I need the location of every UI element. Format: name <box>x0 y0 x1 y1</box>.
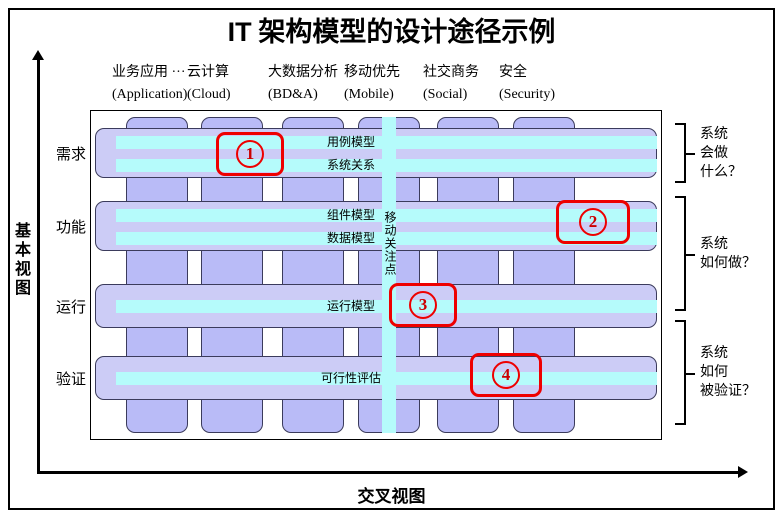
annotation-box-1[interactable]: 1 <box>216 132 284 176</box>
column-header-en: (Social) <box>423 84 479 106</box>
band-label-1: 用例模型 <box>286 136 416 149</box>
brace-tick-3 <box>686 373 695 375</box>
column-header-row: 业务应用 ···(Application)云计算(Cloud)大数据分析(BD&… <box>90 62 662 108</box>
column-header-en: (Application) <box>112 84 187 106</box>
page-title: IT 架构模型的设计途径示例 <box>0 10 783 49</box>
mobile-focus-vertical-label: 移动关注点 <box>382 211 399 276</box>
column-header-cn: 安全 <box>499 62 555 84</box>
y-axis-arrow-icon <box>32 50 44 60</box>
column-header-en: (BD&A) <box>268 84 338 106</box>
brace-caption-3: 系统如何被验证？ <box>700 344 756 401</box>
brace-1 <box>675 123 686 183</box>
column-header-cn: 业务应用 ··· <box>112 62 187 84</box>
band-label-2: 系统关系 <box>286 159 416 172</box>
band-label-6: 可行性评估 <box>286 372 416 385</box>
column-header-1: 业务应用 ···(Application) <box>112 62 187 106</box>
annotation-box-3[interactable]: 3 <box>389 283 457 327</box>
column-header-cn: 移动优先 <box>344 62 400 84</box>
matrix-frame: 用例模型系统关系组件模型数据模型运行模型可行性评估移动关注点 <box>90 110 662 440</box>
brace-3 <box>675 320 686 425</box>
column-header-6: 安全(Security) <box>499 62 555 106</box>
title-latin: IT <box>228 17 252 47</box>
diagram-root: IT 架构模型的设计途径示例 基本视图 交叉视图 业务应用 ···(Applic… <box>0 0 783 518</box>
column-header-en: (Cloud) <box>187 84 231 106</box>
y-axis-line <box>37 58 40 473</box>
column-header-cn: 大数据分析 <box>268 62 338 84</box>
brace-2 <box>675 196 686 311</box>
column-header-cn: 社交商务 <box>423 62 479 84</box>
brace-caption-line: 系统 <box>700 344 756 363</box>
column-header-cn: 云计算 <box>187 62 231 84</box>
brace-caption-line: 被验证？ <box>700 382 756 401</box>
annotation-box-2[interactable]: 2 <box>556 200 630 244</box>
brace-tick-1 <box>686 153 695 155</box>
brace-caption-line: 如何做？ <box>700 254 756 273</box>
x-axis-label: 交叉视图 <box>0 482 783 507</box>
brace-caption-line: 系统 <box>700 125 742 144</box>
column-header-2: 云计算(Cloud) <box>187 62 231 106</box>
brace-caption-1: 系统会做什么？ <box>700 125 742 182</box>
brace-caption-2: 系统如何做？ <box>700 235 756 273</box>
annotation-box-4[interactable]: 4 <box>470 353 542 397</box>
column-header-4: 移动优先(Mobile) <box>344 62 400 106</box>
column-header-en: (Security) <box>499 84 555 106</box>
y-axis-label: 基本视图 <box>12 222 34 298</box>
column-header-en: (Mobile) <box>344 84 400 106</box>
annotation-number-1: 1 <box>236 140 264 168</box>
annotation-number-2: 2 <box>579 208 607 236</box>
matrix-grid: 用例模型系统关系组件模型数据模型运行模型可行性评估移动关注点 <box>91 111 661 439</box>
x-axis-line <box>37 471 742 474</box>
column-header-3: 大数据分析(BD&A) <box>268 62 338 106</box>
title-cn: 架构模型的设计途径示例 <box>252 17 556 47</box>
brace-caption-line: 如何 <box>700 363 756 382</box>
brace-tick-2 <box>686 254 695 256</box>
annotation-number-4: 4 <box>492 361 520 389</box>
brace-caption-line: 什么？ <box>700 163 742 182</box>
annotation-number-3: 3 <box>409 291 437 319</box>
x-axis-arrow-icon <box>738 466 748 478</box>
column-header-5: 社交商务(Social) <box>423 62 479 106</box>
brace-caption-line: 会做 <box>700 144 742 163</box>
brace-caption-line: 系统 <box>700 235 756 254</box>
